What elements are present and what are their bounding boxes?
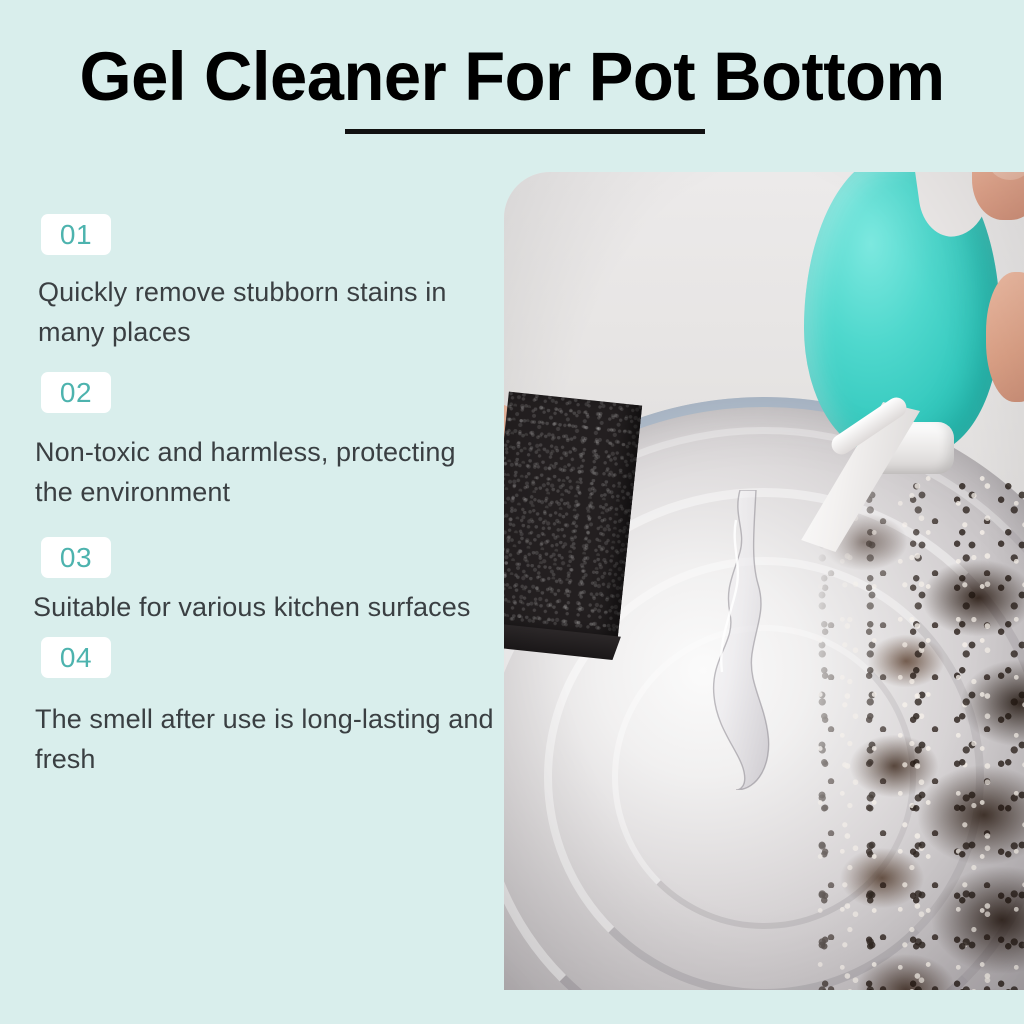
gel-cleaner-bottle (790, 172, 1020, 554)
photo-scene (504, 172, 1024, 990)
feature-description: Suitable for various kitchen surfaces (33, 588, 498, 628)
list-item: 02 Non-toxic and harmless, protecting th… (33, 372, 503, 512)
feature-description: Quickly remove stubborn stains in many p… (38, 273, 503, 352)
product-photo (504, 172, 1024, 990)
list-item: 04 The smell after use is long-lasting a… (33, 637, 503, 779)
feature-number-badge: 02 (41, 372, 111, 413)
title-underline-rule (345, 129, 705, 134)
feature-description: The smell after use is long-lasting and … (35, 700, 500, 779)
feature-number-badge: 03 (41, 537, 111, 578)
feature-description: Non-toxic and harmless, protecting the e… (35, 433, 500, 512)
list-item: 03 Suitable for various kitchen surfaces (33, 537, 503, 628)
feature-number-badge: 01 (41, 214, 111, 255)
page-header: Gel Cleaner For Pot Bottom (0, 42, 1024, 111)
feature-list: 01 Quickly remove stubborn stains in man… (33, 214, 503, 780)
list-item: 01 Quickly remove stubborn stains in man… (33, 214, 503, 352)
gel-stream-icon (700, 490, 782, 790)
feature-number-badge: 04 (41, 637, 111, 678)
page-title: Gel Cleaner For Pot Bottom (15, 42, 1008, 111)
